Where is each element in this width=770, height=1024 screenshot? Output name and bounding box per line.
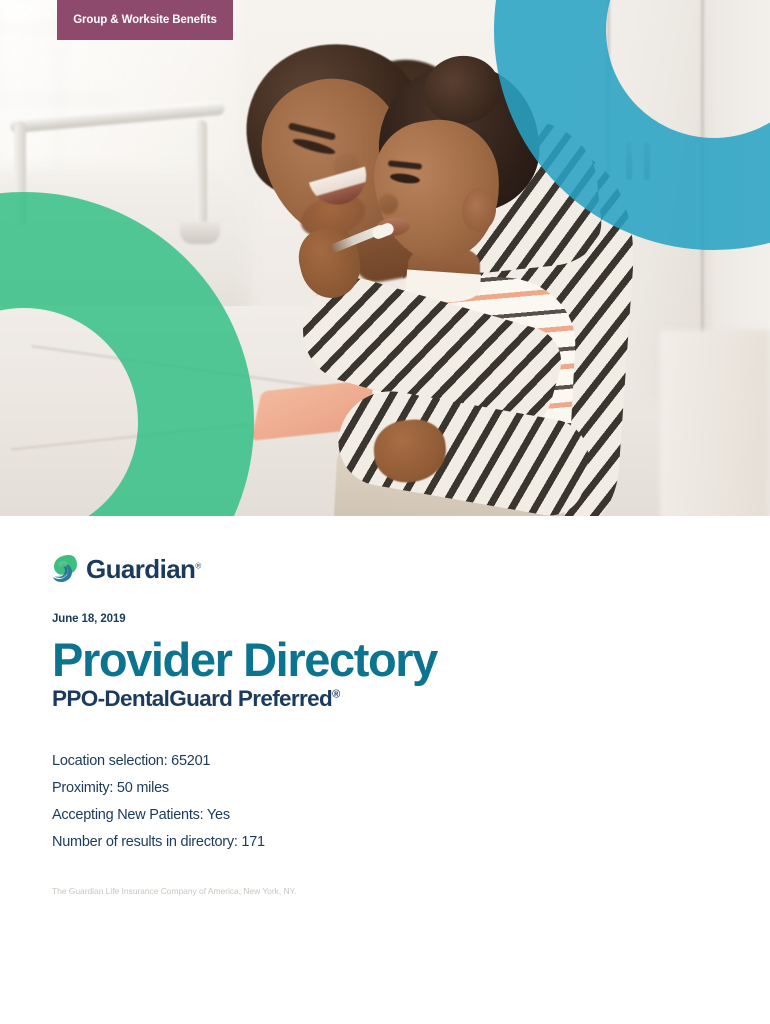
group-worksite-benefits-badge: Group & Worksite Benefits xyxy=(57,0,233,40)
mother-and-child xyxy=(0,0,770,516)
child-nose xyxy=(378,194,398,214)
hero-photo xyxy=(0,0,770,516)
guardian-wordmark: Guardian® xyxy=(86,556,201,582)
guardian-registered-mark: ® xyxy=(195,561,200,570)
page-subtitle: PPO-DentalGuard Preferred® xyxy=(52,685,718,712)
legal-disclaimer: The Guardian Life Insurance Company of A… xyxy=(52,886,718,896)
page-title: Provider Directory xyxy=(52,635,718,684)
guardian-g-mark-icon xyxy=(52,554,78,584)
detail-number-of-results: Number of results in directory: 171 xyxy=(52,829,718,856)
detail-accepting-new-patients: Accepting New Patients: Yes xyxy=(52,802,718,829)
subtitle-text: PPO-DentalGuard Preferred xyxy=(52,686,332,711)
document-date: June 18, 2019 xyxy=(52,613,718,625)
subtitle-registered-mark: ® xyxy=(332,689,339,701)
search-criteria-list: Location selection: 65201 Proximity: 50 … xyxy=(52,748,718,855)
detail-location-selection: Location selection: 65201 xyxy=(52,748,718,775)
cover-content: Guardian® June 18, 2019 Provider Directo… xyxy=(0,516,770,1024)
detail-proximity: Proximity: 50 miles xyxy=(52,775,718,802)
guardian-logo: Guardian® xyxy=(52,552,718,586)
provider-directory-cover-page: Group & Worksite Benefits Guardian® June… xyxy=(0,0,770,1024)
badge-label: Group & Worksite Benefits xyxy=(73,14,217,26)
